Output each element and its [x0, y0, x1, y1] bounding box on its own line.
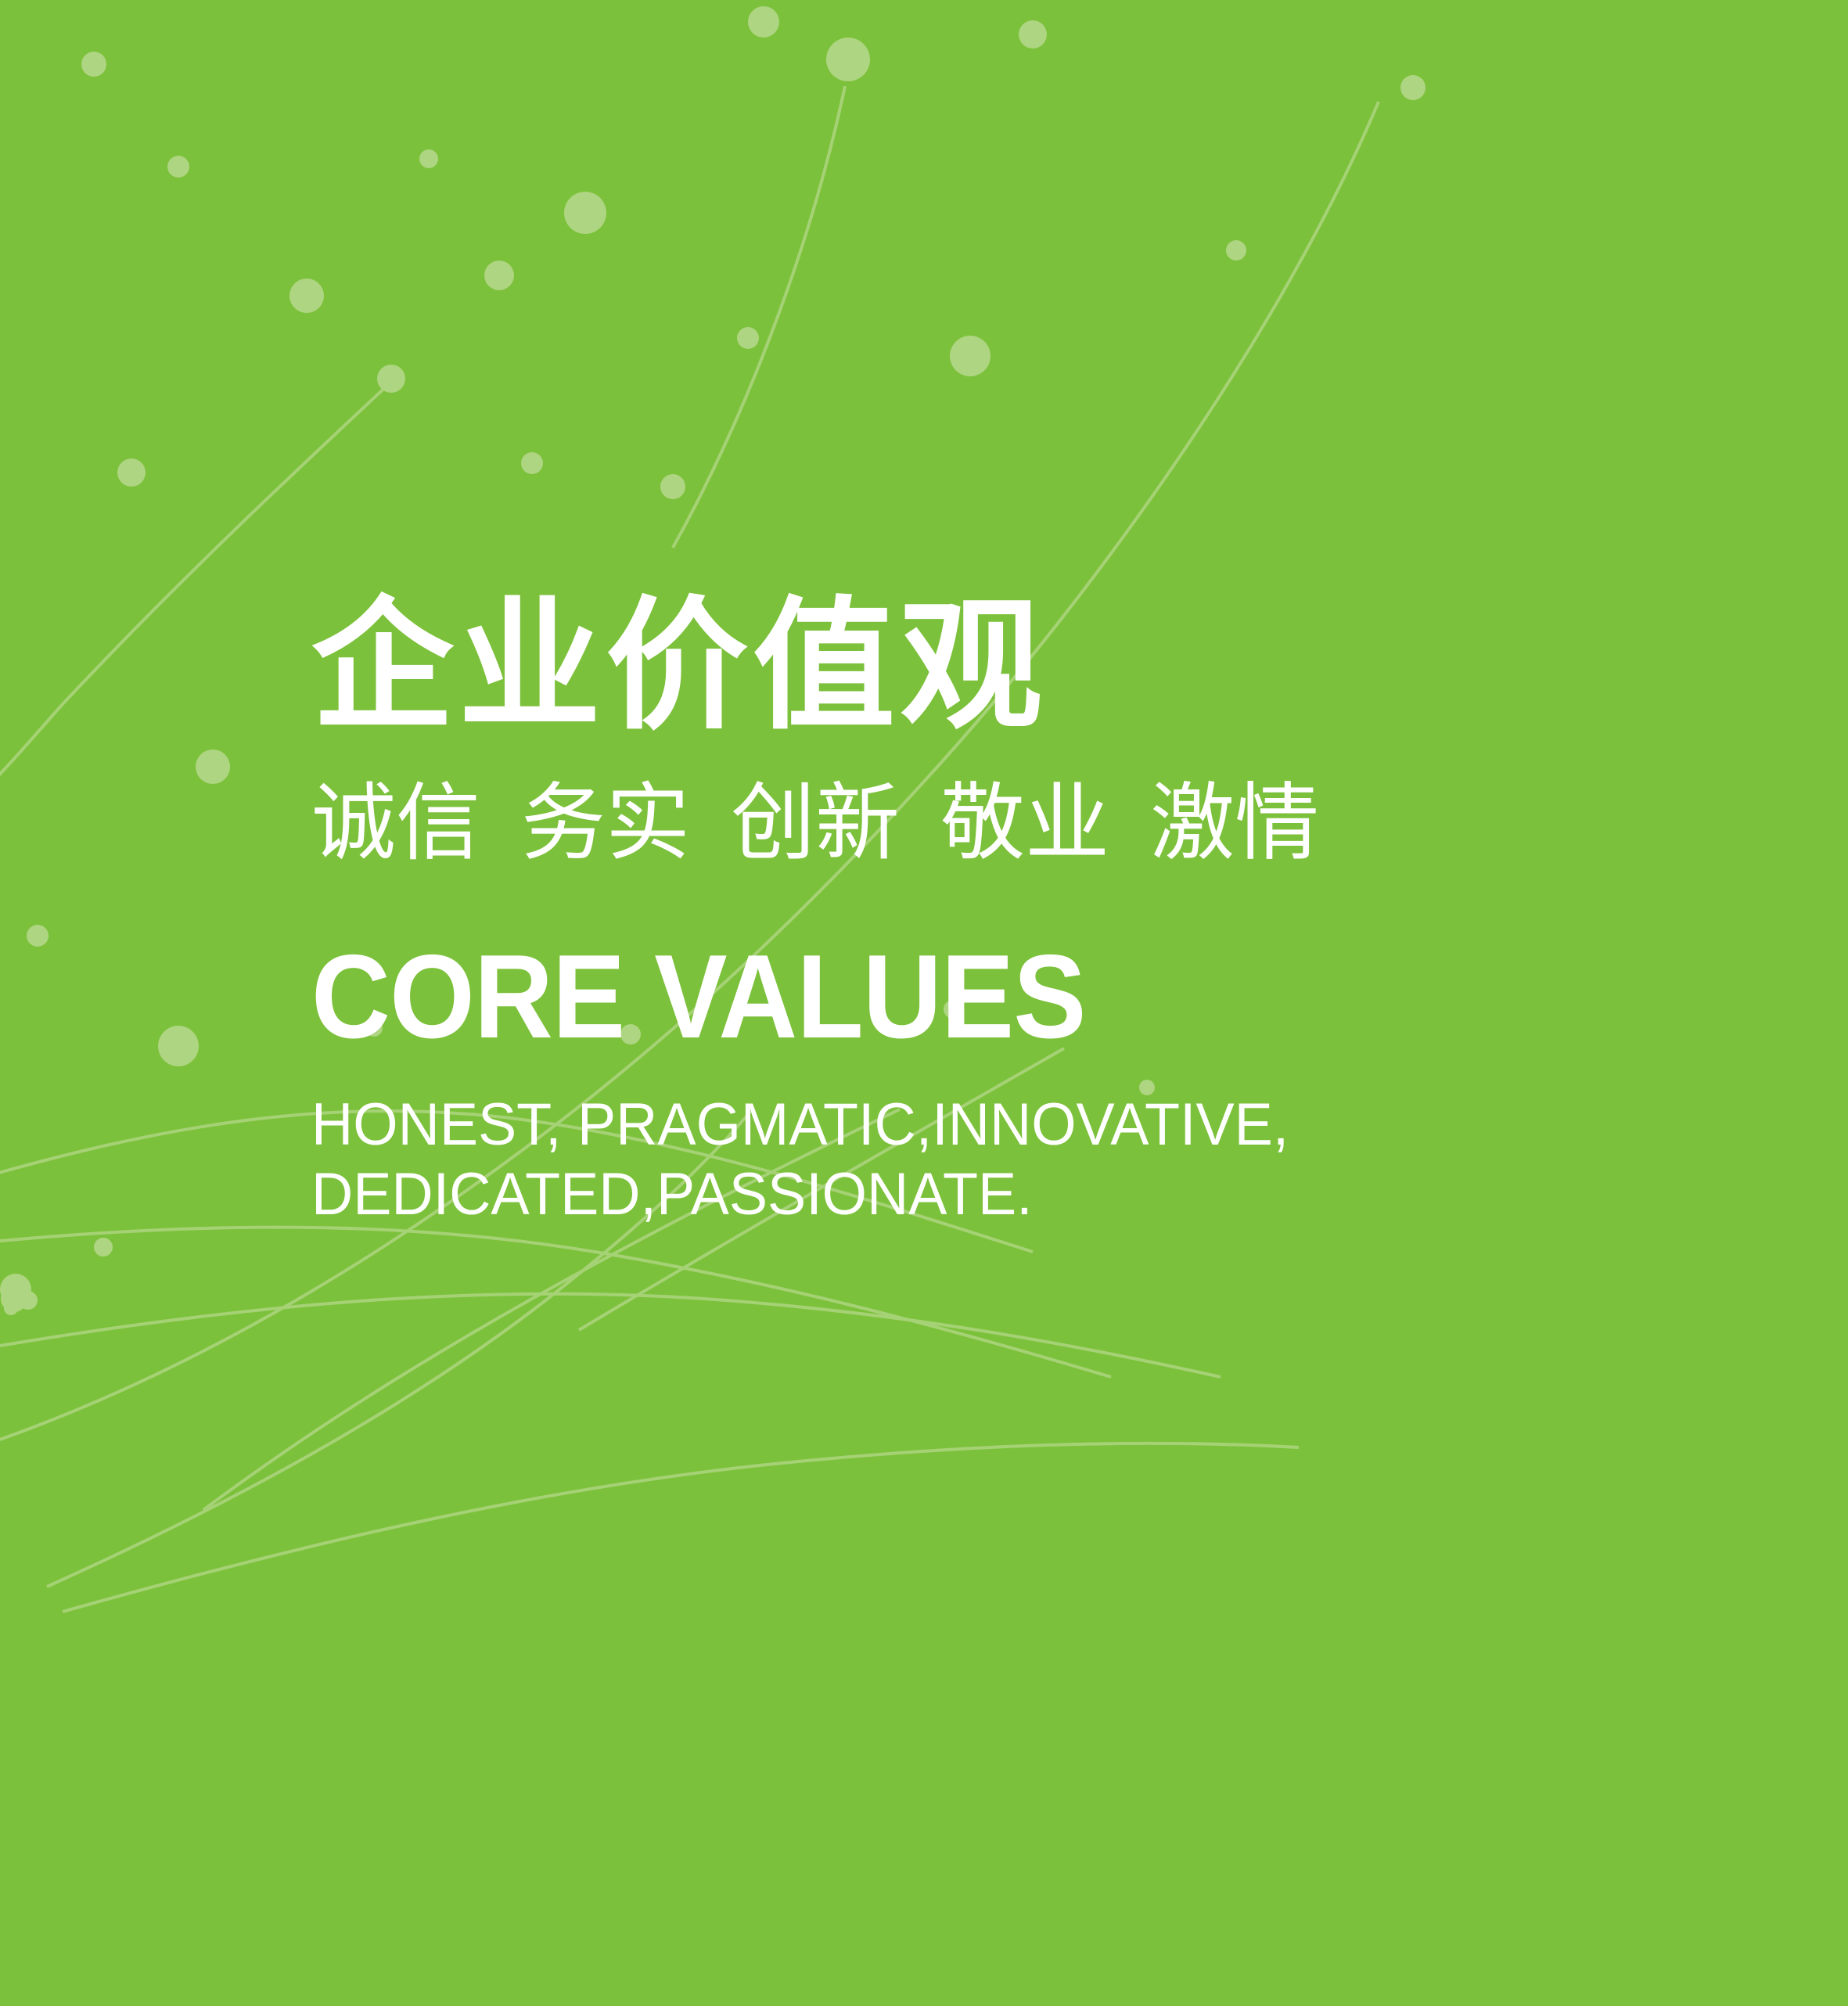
page-title-english: CORE VALUES: [311, 865, 1593, 1056]
values-list-chinese: 诚信务实创新敬业激情: [311, 737, 1704, 865]
values-english-line-1: HONEST, PRAGMATIC,INNOVATIVE,: [311, 1091, 1663, 1160]
value-item-passionate-cn: 激情: [1150, 775, 1319, 870]
text-block: 企业价值观 诚信务实创新敬业激情 CORE VALUES HONEST, PRA…: [311, 595, 1704, 1230]
values-list-english: HONEST, PRAGMATIC,INNOVATIVE, DEDICATED,…: [311, 1056, 1663, 1230]
core-values-poster: 企业价值观 诚信务实创新敬业激情 CORE VALUES HONEST, PRA…: [0, 0, 1848, 2006]
value-item-honest-cn: 诚信: [311, 775, 480, 870]
page-title-chinese: 企业价值观: [311, 595, 1704, 737]
value-item-dedicated-cn: 敬业: [940, 775, 1109, 870]
values-english-line-2: DEDICATED,PASSIONATE.: [311, 1160, 1663, 1230]
value-item-pragmatic-cn: 务实: [521, 775, 690, 870]
value-item-innovative-cn: 创新: [731, 775, 900, 870]
